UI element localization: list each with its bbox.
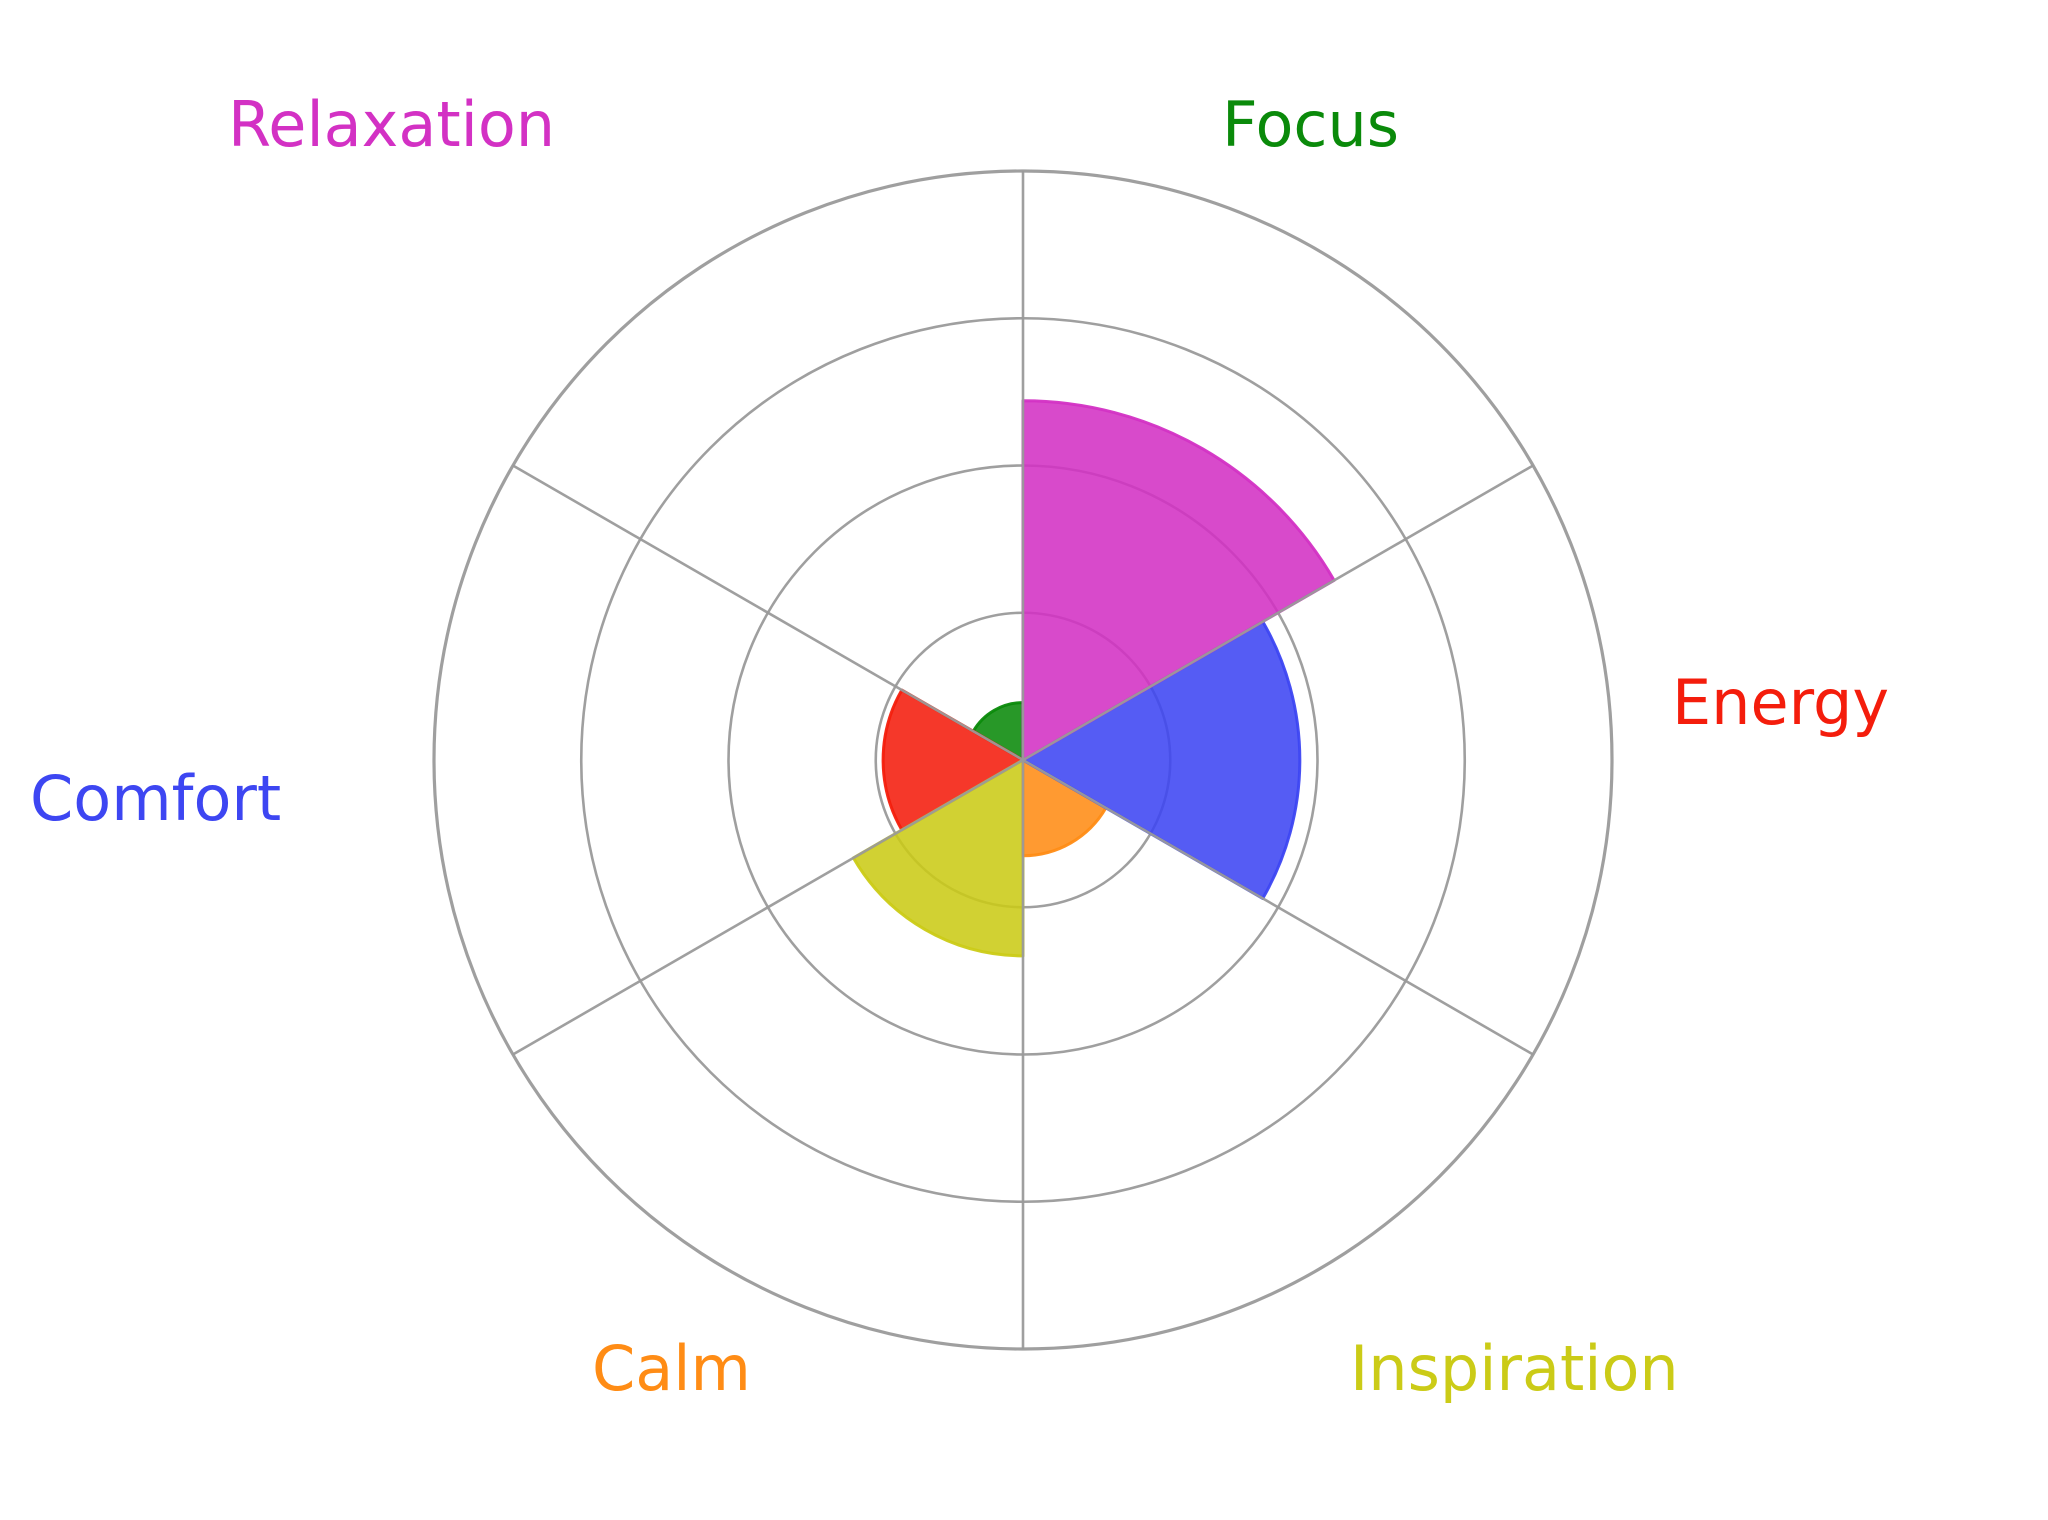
- axis-label-comfort: Comfort: [30, 768, 281, 830]
- polar-wedges: [853, 401, 1334, 956]
- axis-label-energy: Energy: [1672, 672, 1889, 734]
- axis-label-calm: Calm: [592, 1338, 751, 1400]
- spoke-1: [513, 466, 1023, 761]
- axis-label-focus: Focus: [1222, 94, 1399, 156]
- chart-canvas: Focus Energy Inspiration Calm Comfort Re…: [0, 0, 2048, 1520]
- polar-bar-chart: [0, 0, 2048, 1520]
- axis-label-inspiration: Inspiration: [1350, 1338, 1679, 1400]
- axis-label-relaxation: Relaxation: [228, 94, 555, 156]
- polar-spokes: [513, 171, 1533, 1349]
